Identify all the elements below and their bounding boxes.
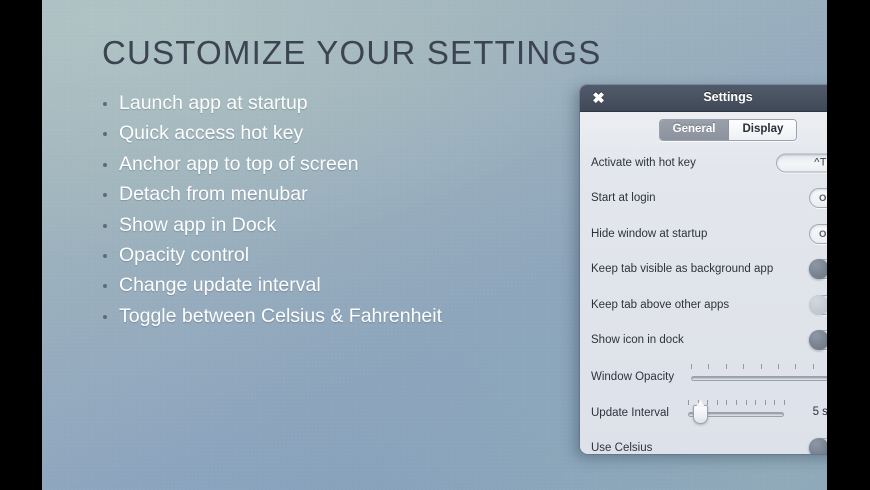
page-title: CUSTOMIZE YOUR SETTINGS	[102, 34, 601, 72]
slider-tick	[717, 400, 718, 405]
slider-tick	[708, 364, 709, 369]
tab-display[interactable]: Display	[729, 120, 796, 140]
slider-tick	[726, 400, 727, 405]
slider-tick	[707, 400, 708, 405]
row-update-interval: Update Interval 5 seconds	[591, 394, 865, 430]
list-item-label: Opacity control	[119, 244, 249, 266]
list-item-label: Toggle between Celsius & Fahrenheit	[119, 305, 442, 327]
row-use-celsius: Use Celsius OFF	[591, 430, 865, 454]
list-item: Anchor app to top of screen	[102, 153, 442, 175]
slider-tick	[746, 400, 747, 405]
bullet-dot-icon	[103, 315, 107, 319]
slider-tick	[755, 400, 756, 405]
list-item: Toggle between Celsius & Fahrenheit	[102, 305, 442, 327]
letterbox-bar-left	[0, 0, 42, 490]
row-label: Hide window at startup	[591, 228, 707, 240]
row-window-opacity: Window Opacity	[591, 358, 865, 394]
hotkey-value: ^T	[814, 157, 826, 169]
bullet-dot-icon	[103, 132, 107, 136]
row-start-at-login: Start at login ON	[591, 181, 865, 217]
slider-tick	[726, 364, 727, 369]
slider-tick	[761, 364, 762, 369]
list-item: Opacity control	[102, 244, 442, 266]
row-keep-tab-visible: Keep tab visible as background app OFF	[591, 252, 865, 288]
row-hide-window-at-startup: Hide window at startup ON	[591, 216, 865, 252]
bullet-dot-icon	[103, 193, 107, 197]
row-label: Show icon in dock	[591, 334, 684, 346]
row-label: Use Celsius	[591, 442, 652, 454]
list-item: Detach from menubar	[102, 183, 442, 205]
row-label: Update Interval	[591, 407, 669, 419]
row-keep-tab-above: Keep tab above other apps OFF	[591, 287, 865, 323]
bullet-dot-icon	[103, 284, 107, 288]
bullet-dot-icon	[103, 254, 107, 258]
tab-general[interactable]: General	[660, 120, 730, 140]
bullet-dot-icon	[103, 102, 107, 106]
slide-background: CUSTOMIZE YOUR SETTINGS Launch app at st…	[42, 0, 827, 490]
bullet-dot-icon	[103, 224, 107, 228]
slider-tick	[784, 400, 785, 405]
feature-bullet-list: Launch app at startup Quick access hot k…	[102, 92, 442, 335]
row-label: Start at login	[591, 192, 656, 204]
slider-tick	[743, 364, 744, 369]
list-item: Quick access hot key	[102, 122, 442, 144]
slider-tick	[688, 400, 689, 405]
row-activate-hot-key: Activate with hot key ^T ✖	[591, 145, 865, 181]
list-item-label: Quick access hot key	[119, 122, 303, 144]
letterbox-bar-right	[827, 0, 870, 490]
slider-tick	[736, 400, 737, 405]
row-label: Keep tab above other apps	[591, 299, 729, 311]
row-label: Activate with hot key	[591, 157, 696, 169]
settings-rows: Activate with hot key ^T ✖ Start at logi…	[591, 145, 865, 454]
slider-knob[interactable]	[693, 405, 708, 424]
toggle-knob	[809, 438, 829, 454]
list-item-label: Change update interval	[119, 274, 321, 296]
list-item: Change update interval	[102, 274, 442, 296]
slider-tick	[778, 364, 779, 369]
list-item: Show app in Dock	[102, 214, 442, 236]
toggle-knob	[809, 330, 829, 350]
row-label: Keep tab visible as background app	[591, 263, 773, 275]
list-item-label: Launch app at startup	[119, 92, 308, 114]
slider-tick	[765, 400, 766, 405]
slider-update-interval[interactable]	[688, 400, 784, 424]
list-item: Launch app at startup	[102, 92, 442, 114]
list-item-label: Show app in Dock	[119, 214, 276, 236]
toggle-knob	[809, 295, 829, 315]
row-label: Window Opacity	[591, 371, 674, 383]
list-item-label: Anchor app to top of screen	[119, 153, 359, 175]
slide-screen: CUSTOMIZE YOUR SETTINGS Launch app at st…	[0, 0, 870, 490]
list-item-label: Detach from menubar	[119, 183, 308, 205]
toggle-knob	[809, 259, 829, 279]
slider-tick	[795, 364, 796, 369]
slider-tick	[691, 364, 692, 369]
row-show-icon-in-dock: Show icon in dock OFF	[591, 323, 865, 359]
bullet-dot-icon	[103, 163, 107, 167]
slider-tick	[813, 364, 814, 369]
slider-tick	[774, 400, 775, 405]
